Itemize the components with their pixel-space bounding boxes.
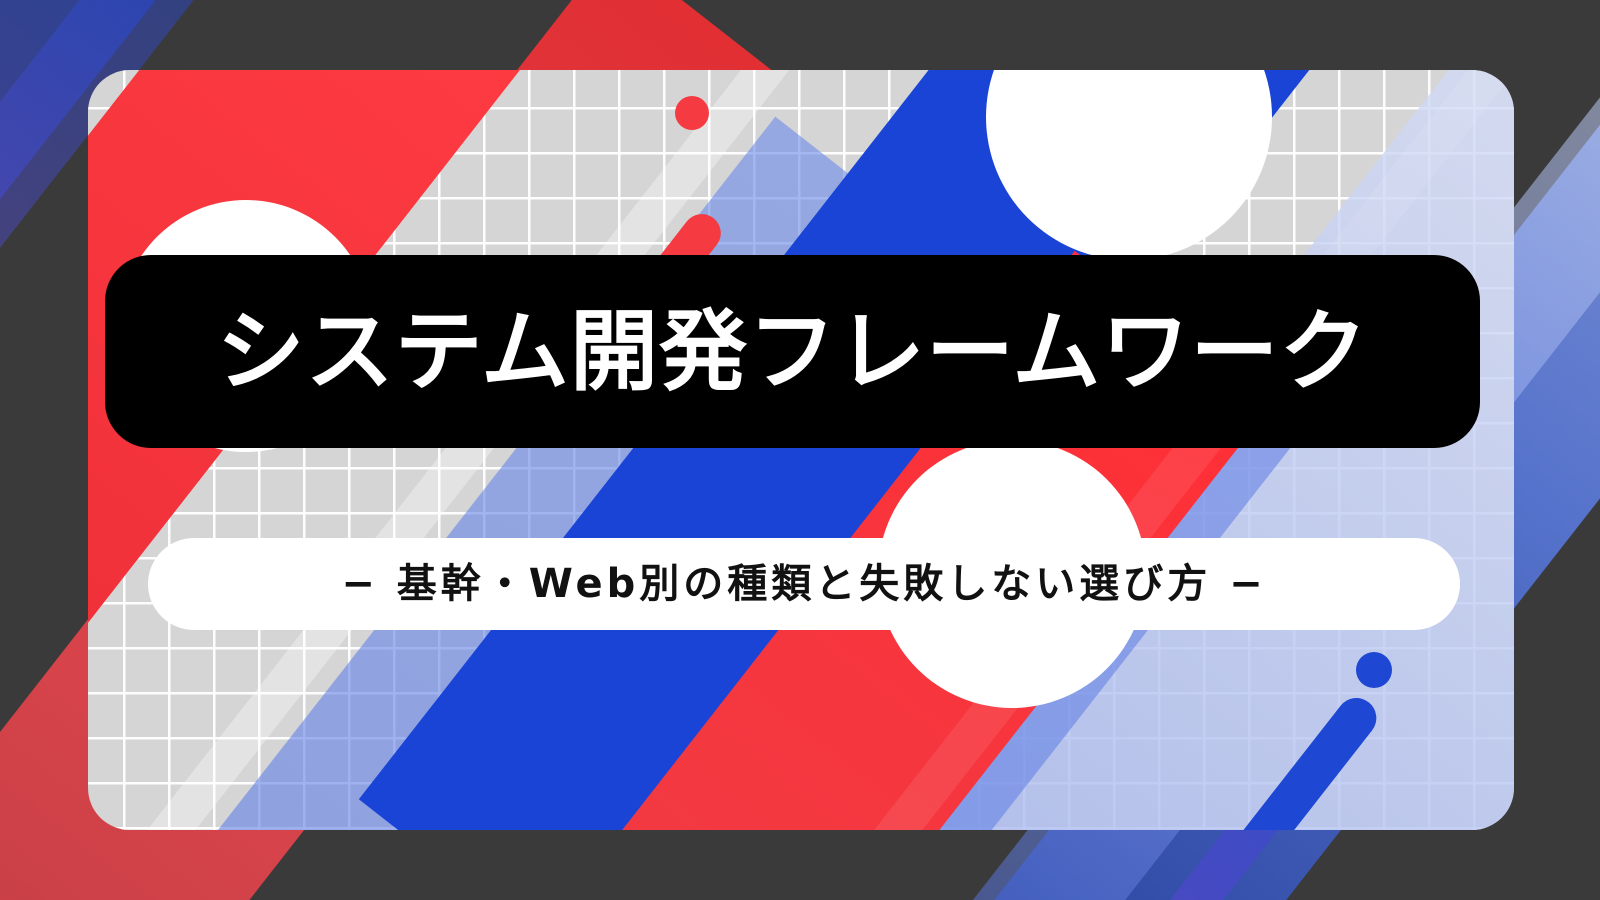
title-banner: システム開発フレームワーク [105,255,1480,448]
white-circle-top-right [986,70,1272,260]
red-accent-dot [675,96,709,130]
banner-card [88,70,1514,830]
banner-canvas: システム開発フレームワーク − 基幹・Web別の種類と失敗しない選び方 − [0,0,1600,900]
page-subtitle: − 基幹・Web別の種類と失敗しない選び方 − [341,564,1266,604]
page-title: システム開発フレームワーク [217,308,1369,396]
blue-accent-bar [1224,690,1385,830]
blue-accent-dot [1356,652,1392,688]
subtitle-banner: − 基幹・Web別の種類と失敗しない選び方 − [148,538,1460,630]
card-foreground-layer [88,70,1514,830]
